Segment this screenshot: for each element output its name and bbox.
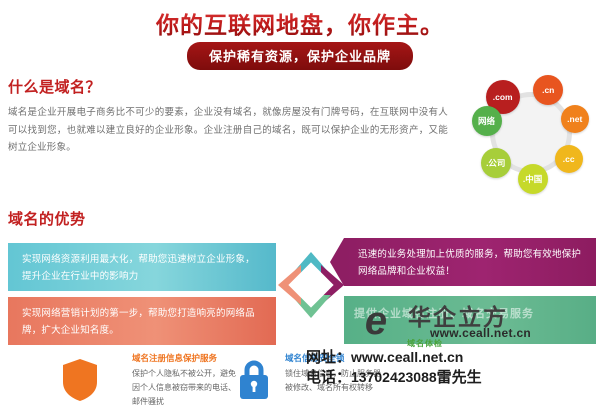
page-title: 你的互联网地盘，你作主。	[0, 6, 600, 40]
domain-bubble-cn: .cn	[533, 75, 563, 105]
page-header: 你的互联网地盘，你作主。 保护稀有资源，保护企业品牌	[0, 0, 600, 72]
feature-domain-privacy: 域名注册信息保护服务 保护个人隐私不被公开，避免因个人信息被窃带来的电话、邮件骚…	[132, 352, 240, 409]
shield-icon	[62, 358, 98, 402]
advantage-box-1: 实现网络资源利用最大化，帮助您迅速树立企业形象，提升企业在行业中的影响力	[8, 243, 276, 291]
ceall-e-logo-icon: e	[350, 300, 402, 342]
domain-bubble-wangluo: 网络	[472, 106, 502, 136]
section-what-body: 域名是企业开展电子商务比不可少的要素，企业没有域名，就像房屋没有门牌号码，在互联…	[8, 104, 448, 157]
feature-body: 锁住域名信息，防止服务器被修改、域名所有权转移	[285, 367, 385, 395]
watermark-contact-name: 雷先生	[437, 369, 482, 386]
section-what-is-domain: 什么是域名？ 域名是企业开展电子商务比不可少的要素，企业没有域名，就像房屋没有门…	[8, 76, 458, 157]
subtitle-pill-wrap: 保护稀有资源，保护企业品牌	[0, 42, 600, 70]
subtitle-pill: 保护稀有资源，保护企业品牌	[187, 42, 413, 70]
feature-title: 域名注册信息保护服务	[132, 352, 240, 364]
brand-logo-bar: 提供企业域名注册、域名交易服务 e 华企立方 www.ceall.net.cn	[344, 296, 596, 344]
advantage-box-2: 实现网络营销计划的第一步，帮助您打造响亮的网络品牌，扩大企业知名度。	[8, 297, 276, 345]
feature-title: 域名信息安全锁	[285, 352, 385, 364]
pinwheel-diamond-graphic	[278, 252, 344, 318]
domain-circle-diagram: .com .cn .net .cc .中国 .公司 网络	[470, 78, 592, 196]
section-advantage-title: 域名的优势	[8, 208, 86, 229]
lock-icon	[236, 358, 272, 402]
feature-body: 保护个人隐私不被公开，避免因个人信息被窃带来的电话、邮件骚扰	[132, 367, 240, 409]
brand-url: www.ceall.net.cn	[430, 326, 531, 340]
section-what-title: 什么是域名？	[8, 76, 458, 97]
domain-bubble-cc: .cc	[555, 145, 583, 173]
domain-bubble-zhongguo: .中国	[518, 164, 548, 194]
domain-bubble-gongsi: .公司	[481, 148, 511, 178]
domain-bubble-net: .net	[561, 105, 589, 133]
advantage-box-3: 迅速的业务处理加上优质的服务，帮助您有效地保护网络品牌和企业权益！	[344, 238, 596, 286]
feature-domain-lock: 域名信息安全锁 锁住域名信息，防止服务器被修改、域名所有权转移	[285, 352, 385, 395]
promo-page: 你的互联网地盘，你作主。 保护稀有资源，保护企业品牌 什么是域名？ 域名是企业开…	[0, 0, 600, 416]
